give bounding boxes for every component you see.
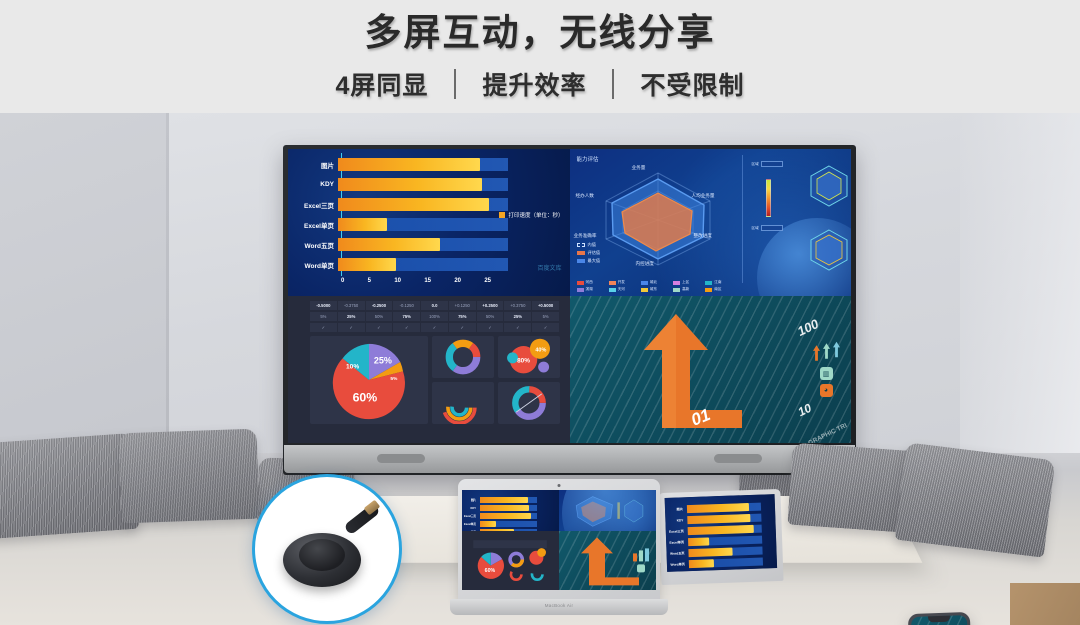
speaker-grille-left	[377, 454, 425, 463]
radar-axis-label-4: 业务准确率	[574, 233, 597, 239]
table-cell: 100%	[421, 312, 449, 321]
table-row-values: -0.5000-0.3750-0.2500-0.12500.0+0.1250+0…	[310, 301, 560, 310]
table-cell: ✓	[338, 323, 366, 332]
laptop-camera-icon	[558, 484, 561, 487]
radar-legend: 内值 评估值 最大值	[577, 242, 601, 266]
laptop-device[interactable]: 图片KDYExcel三页Excel单页Word五页Word单页	[450, 479, 668, 619]
bar-x-tick: 10	[394, 278, 401, 284]
radar-category-legend-item: 城东	[641, 287, 670, 292]
radar-sub-hex-svg-bottom	[806, 227, 852, 273]
radar-category-legend-item: 江南	[705, 280, 734, 285]
bar-category-label: Excel三页	[666, 528, 688, 534]
table-row-icons: ✓✓✓✓✓✓✓✓✓	[310, 323, 560, 332]
table-cell: 75%	[393, 312, 421, 321]
speaker-grille-right	[714, 454, 762, 463]
bar-category-label: Word单页	[288, 260, 338, 270]
feature-item-1: 提升效率	[456, 66, 612, 102]
bar-value	[480, 513, 531, 519]
bar-row: 图片	[288, 155, 570, 174]
wall-left-panel	[0, 113, 168, 453]
bar-chart-icon: ▥	[820, 367, 833, 380]
table-row-percents: 5%25%50%75%100%75%50%25%5%	[310, 312, 560, 321]
radar-sub-hex-bottom	[806, 227, 852, 273]
bar-track	[480, 497, 537, 503]
radar-axis-label-3: 内控进度	[636, 261, 654, 267]
donut-svg-2	[432, 382, 494, 424]
legend-swatch	[641, 288, 648, 292]
table-cell: 0.0	[421, 301, 449, 310]
radar-sub-selector-top[interactable]: 区域	[752, 161, 783, 167]
table-cell: +0.1250	[449, 301, 477, 310]
table-cell: -0.5000	[310, 301, 338, 310]
bar-row: KDY	[462, 504, 559, 512]
svg-text:10%: 10%	[346, 364, 359, 371]
bar-category-label: 图片	[665, 506, 687, 512]
bar-category-label: Excel单页	[666, 539, 688, 545]
radar-sub-dropdown-bottom[interactable]	[761, 225, 783, 231]
radar-legend-label-2: 最大值	[588, 258, 601, 264]
bar-category-label: KDY	[665, 518, 687, 523]
growth-arrow-svg: 01	[632, 310, 742, 428]
radar-category-legend-item: 南区	[705, 287, 734, 292]
radar-sub-selector-label-bottom: 区域	[752, 226, 759, 231]
bar-value	[688, 537, 710, 546]
legend-label: 滨湖	[586, 287, 593, 292]
legend-swatch	[577, 281, 584, 285]
table-cell: ✓	[477, 323, 505, 332]
bar-x-tick: 5	[368, 278, 371, 284]
bar-legend-label: 打印速度（单位：秒）	[508, 211, 563, 219]
feature-item-2: 不受限制	[614, 66, 770, 102]
radar-legend-label-0: 内值	[588, 242, 596, 248]
bar-value	[480, 521, 496, 527]
radar-subpanel-top: 区域	[748, 157, 852, 219]
radar-category-legend-item: 上区	[673, 280, 702, 285]
table-cell: 25%	[338, 312, 366, 321]
laptop-globe-decoration	[562, 490, 656, 531]
radar-category-legend-item: 开发	[609, 280, 638, 285]
svg-text:80%: 80%	[517, 357, 530, 364]
growth-arrow-icon: 01	[632, 310, 742, 428]
bar-category-label: Word五页	[288, 240, 338, 250]
donut-svg-3	[498, 382, 560, 424]
second-screen-device[interactable]: 图片KDYExcel三页Excel单页Word五页Word单页	[658, 489, 783, 585]
bar-value	[480, 497, 528, 503]
table-cell: ✓	[532, 323, 560, 332]
info-side-icons: ▥ ◕	[807, 336, 845, 397]
legend-swatch	[609, 288, 616, 292]
bar-value	[338, 198, 489, 211]
bar-track	[338, 158, 508, 171]
svg-text:5%: 5%	[390, 376, 398, 382]
donut-card-3	[498, 382, 560, 424]
bar-category-label: 图片	[462, 498, 480, 502]
bar-legend: 打印速度（单位：秒）	[499, 211, 563, 219]
bar-value	[687, 513, 750, 523]
table-cell: ✓	[449, 323, 477, 332]
bar-value	[688, 547, 733, 557]
legend-label: 南区	[714, 287, 721, 292]
phone-notch	[928, 616, 950, 623]
bar-value	[338, 158, 480, 171]
bar-chart-panel: 图片KDYExcel三页Excel单页Word五页Word单页 05101520…	[288, 149, 570, 296]
radar-subpanel-bottom: 区域	[748, 221, 852, 283]
chair-front-left-2	[118, 429, 259, 524]
laptop-arrow-svg	[559, 531, 656, 590]
radar-axis-label-0: 业务量	[632, 165, 646, 171]
legend-label: 城北	[650, 280, 657, 285]
table-cell: -0.1250	[393, 301, 421, 310]
table-cell: ✓	[310, 323, 338, 332]
legend-label: 河西	[586, 280, 593, 285]
table-cell: 50%	[477, 312, 505, 321]
radar-legend-label-1: 评估值	[588, 250, 601, 256]
second-screen-bar-rows: 图片KDYExcel三页Excel单页Word五页Word单页	[665, 500, 777, 570]
radar-category-legend-item: 高新	[673, 287, 702, 292]
display-base-bezel	[284, 445, 855, 473]
laptop-pie-svg: 60%	[468, 536, 553, 585]
radar-legend-row-2: 最大值	[577, 258, 601, 264]
bar-category-label: 图片	[288, 160, 338, 170]
bar-value	[338, 258, 396, 271]
bar-row: KDY	[288, 175, 570, 194]
table-cell: -0.3750	[338, 301, 366, 310]
bar-x-tick: 20	[454, 278, 461, 284]
bar-value	[338, 178, 482, 191]
legend-label: 天河	[618, 287, 625, 292]
radar-axis-label-1: 人均业务量	[692, 193, 715, 199]
table-cell: 50%	[366, 312, 394, 321]
product-callout-badge	[252, 474, 402, 624]
bar-x-tick: 15	[424, 278, 431, 284]
bar-track	[689, 557, 763, 568]
legend-label: 上区	[682, 280, 689, 285]
table-cell: 25%	[504, 312, 532, 321]
bubble-card: 40% 80%	[498, 336, 560, 378]
legend-label: 高新	[682, 287, 689, 292]
table-cell: ✓	[393, 323, 421, 332]
radar-title: 能力评估	[577, 155, 599, 163]
bar-track	[338, 258, 508, 271]
radar-sub-hex-svg-top	[806, 163, 852, 209]
bar-category-label: KDY	[288, 181, 338, 188]
conference-display[interactable]: 图片KDYExcel三页Excel单页Word五页Word单页 05101520…	[283, 145, 856, 475]
radar-dashboard-panel: 能力评估	[570, 149, 852, 296]
bar-track	[338, 178, 508, 191]
svg-text:60%: 60%	[353, 390, 378, 404]
bar-legend-swatch	[499, 212, 505, 218]
legend-swatch	[673, 281, 680, 285]
bar-x-tick: 0	[341, 278, 344, 284]
radar-colorbar	[766, 179, 771, 217]
bar-category-label: Excel三页	[462, 514, 480, 518]
data-table: -0.5000-0.3750-0.2500-0.12500.0+0.1250+0…	[310, 301, 560, 334]
bar-x-axis: 0510152025	[341, 278, 491, 284]
feature-divider-1	[612, 69, 614, 99]
mini-arrow-up-icon-3	[833, 336, 840, 363]
radar-legend-row-1: 评估值	[577, 250, 601, 256]
mini-arrow-up-icon-1	[813, 343, 820, 363]
radar-sub-selector-label-top: 区域	[752, 162, 759, 167]
bar-value	[687, 503, 749, 513]
legend-swatch	[705, 288, 712, 292]
radar-svg	[588, 163, 728, 275]
legend-swatch	[705, 281, 712, 285]
bar-row: Word五页	[288, 235, 570, 254]
table-cell: +0.5000	[532, 301, 560, 310]
table-cell: +0.3750	[504, 301, 532, 310]
radar-category-legend-item: 河西	[577, 280, 606, 285]
smartphone-device[interactable]: 01	[908, 612, 974, 625]
page-title: 多屏互动，无线分享	[0, 2, 1080, 56]
bar-category-label: Excel三页	[288, 200, 338, 210]
radar-chart-main	[588, 163, 728, 275]
legend-swatch	[641, 281, 648, 285]
bar-row: 图片	[462, 496, 559, 504]
svg-text:60%: 60%	[485, 568, 496, 574]
radar-legend-swatch-0	[577, 243, 585, 247]
legend-swatch	[673, 288, 680, 292]
bar-category-label: Excel单页	[288, 220, 338, 230]
radar-sub-hex-top	[806, 163, 852, 209]
arrow-infographic-panel: 01 100 10	[570, 296, 852, 443]
feature-list: 4屏同显 提升效率 不受限制	[0, 66, 1080, 102]
table-cell: ✓	[366, 323, 394, 332]
radar-axis-label-2: 整改进度	[694, 233, 712, 239]
mini-arrow-up-icon-2	[823, 339, 830, 363]
bar-value	[689, 559, 714, 568]
table-cell: ✓	[421, 323, 449, 332]
laptop-info-panel	[559, 531, 656, 590]
bar-track	[338, 218, 508, 231]
bar-category-label: Excel单页	[462, 522, 480, 526]
bar-track	[480, 505, 537, 511]
bar-value	[688, 524, 754, 534]
bar-watermark: 百度文库	[537, 263, 561, 272]
table-cell: 5%	[532, 312, 560, 321]
svg-text:40%: 40%	[535, 348, 546, 354]
chair-front-right-2	[895, 442, 1056, 558]
pie-chart-icon: ◕	[820, 384, 833, 397]
radar-legend-row-0: 内值	[577, 242, 601, 248]
radar-panel-divider	[742, 155, 743, 283]
meeting-room-scene: 图片KDYExcel三页Excel单页Word五页Word单页 05101520…	[0, 113, 1080, 625]
laptop-bar-panel: 图片KDYExcel三页Excel单页Word五页Word单页	[462, 490, 559, 531]
bubble-svg: 40% 80%	[498, 336, 560, 378]
legend-swatch	[577, 288, 584, 292]
second-screen-bar-panel: 图片KDYExcel三页Excel单页Word五页Word单页	[665, 494, 778, 572]
radar-category-legend-item: 滨湖	[577, 287, 606, 292]
svg-text:25%: 25%	[374, 356, 392, 366]
product-promo-page: 多屏互动，无线分享 4屏同显 提升效率 不受限制 图片KDYExcel三	[0, 0, 1080, 625]
bar-value	[480, 505, 529, 511]
legend-label: 城东	[650, 287, 657, 292]
pie-card: 25% 10% 5% 60%	[310, 336, 428, 424]
bar-track	[338, 238, 508, 251]
table-cell: 5%	[310, 312, 338, 321]
laptop-pie-panel: 60%	[462, 531, 559, 590]
bar-value	[338, 218, 387, 231]
bar-row: Excel单页	[462, 520, 559, 528]
bar-row: Excel三页	[462, 512, 559, 520]
pie-analytics-panel: -0.5000-0.3750-0.2500-0.12500.0+0.1250+0…	[288, 296, 570, 443]
radar-category-legend-item: 天河	[609, 287, 638, 292]
legend-label: 江南	[714, 280, 721, 285]
feature-item-0: 4屏同显	[310, 66, 455, 102]
legend-label: 开发	[618, 280, 625, 285]
donut-card-1	[432, 336, 494, 378]
bar-x-tick: 25	[484, 278, 491, 284]
feature-divider-0	[454, 69, 456, 99]
bar-category-label: KDY	[462, 507, 480, 510]
radar-category-legend-item: 城北	[641, 280, 670, 285]
bar-value	[338, 238, 440, 251]
bar-category-label: Word单页	[667, 561, 689, 567]
mini-arrows-row	[807, 336, 845, 363]
second-screen-display: 图片KDYExcel三页Excel单页Word五页Word单页	[665, 494, 778, 572]
donut-card-2	[432, 382, 494, 424]
legend-swatch	[609, 281, 616, 285]
bar-track	[480, 513, 537, 519]
header-banner: 多屏互动，无线分享 4屏同显 提升效率 不受限制	[0, 0, 1080, 113]
radar-axis-label-5: 经办人数	[576, 193, 594, 199]
chart-card-grid: 25% 10% 5% 60%	[310, 336, 560, 424]
table-cell: ✓	[504, 323, 532, 332]
dongle-top-surface	[299, 539, 345, 571]
table-cell: -0.2500	[366, 301, 394, 310]
table-cell: +0.2500	[477, 301, 505, 310]
laptop-radar-panel	[559, 490, 656, 531]
display-screen[interactable]: 图片KDYExcel三页Excel单页Word五页Word单页 05101520…	[288, 149, 851, 443]
bar-track	[338, 198, 508, 211]
donut-svg-1	[432, 336, 494, 378]
radar-sub-dropdown-top[interactable]	[761, 161, 783, 167]
pie-svg: 25% 10% 5% 60%	[328, 339, 410, 421]
radar-category-legend: 河西开发城北上区江南滨湖天河城东高新南区	[577, 280, 735, 292]
laptop-brand-label: MacBook Air	[545, 603, 574, 608]
table-cell: 75%	[449, 312, 477, 321]
bar-category-label: Word五页	[666, 550, 688, 556]
radar-legend-swatch-2	[577, 259, 585, 263]
laptop-display: 图片KDYExcel三页Excel单页Word五页Word单页	[462, 490, 656, 590]
bar-row: Word单页	[288, 255, 570, 274]
bar-track	[480, 521, 537, 527]
wall-right-highlight	[960, 113, 1080, 465]
radar-sub-selector-bottom[interactable]: 区域	[752, 225, 783, 231]
radar-legend-swatch-1	[577, 251, 585, 255]
floor-wood-strip	[1010, 583, 1080, 625]
